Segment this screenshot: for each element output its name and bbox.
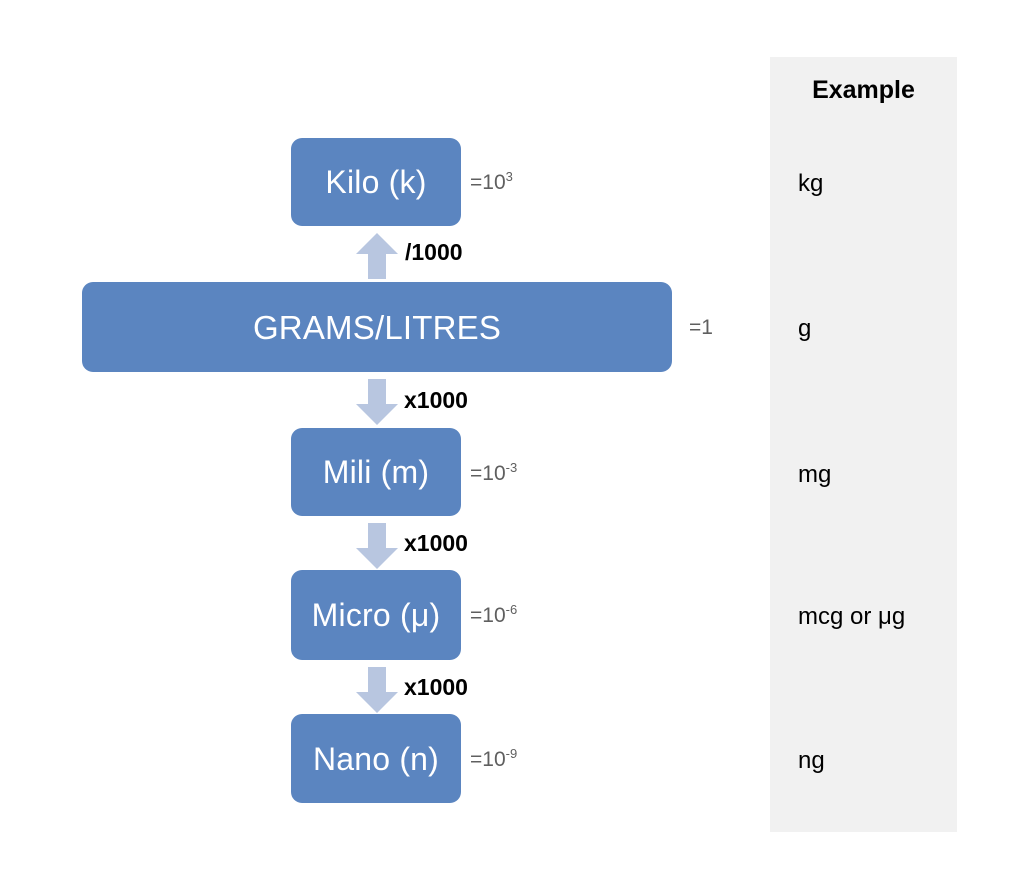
arrow-down-icon: [355, 666, 399, 714]
arrow-label-divide-1000: /1000: [405, 241, 463, 264]
example-value-kg: kg: [798, 172, 823, 196]
arrow-label-multiply-1000-micro: x1000: [404, 532, 468, 555]
arrow-up-icon: [355, 232, 399, 280]
equivalence-kilo-base: =10: [470, 171, 506, 194]
equivalence-micro-base: =10: [470, 604, 506, 627]
equivalence-nano-base: =10: [470, 748, 506, 771]
equivalence-grams-base: =1: [689, 316, 713, 339]
equivalence-mili: =10-3: [470, 463, 517, 484]
example-value-mg: mg: [798, 463, 831, 487]
equivalence-grams: =1: [689, 317, 713, 338]
example-value-mcg: mcg or μg: [798, 605, 905, 629]
equivalence-micro-exponent: -6: [506, 602, 518, 617]
equivalence-mili-base: =10: [470, 462, 506, 485]
example-value-g: g: [798, 317, 811, 341]
unit-box-grams-litres: GRAMS/LITRES: [82, 282, 672, 372]
equivalence-micro: =10-6: [470, 605, 517, 626]
unit-box-mili: Mili (m): [291, 428, 461, 516]
equivalence-kilo: =103: [470, 172, 513, 193]
unit-box-kilo: Kilo (k): [291, 138, 461, 226]
unit-box-micro: Micro (μ): [291, 570, 461, 660]
unit-box-nano: Nano (n): [291, 714, 461, 803]
equivalence-nano-exponent: -9: [506, 746, 518, 761]
equivalence-kilo-exponent: 3: [506, 169, 513, 184]
arrow-down-icon: [355, 378, 399, 426]
arrow-down-icon: [355, 522, 399, 570]
diagram-canvas: Example kg g mg mcg or μg ng Kilo (k) GR…: [0, 0, 1024, 875]
equivalence-nano: =10-9: [470, 749, 517, 770]
equivalence-mili-exponent: -3: [506, 460, 518, 475]
arrow-label-multiply-1000-mili: x1000: [404, 389, 468, 412]
arrow-label-multiply-1000-nano: x1000: [404, 676, 468, 699]
example-value-ng: ng: [798, 749, 825, 773]
example-panel-header: Example: [770, 78, 957, 103]
